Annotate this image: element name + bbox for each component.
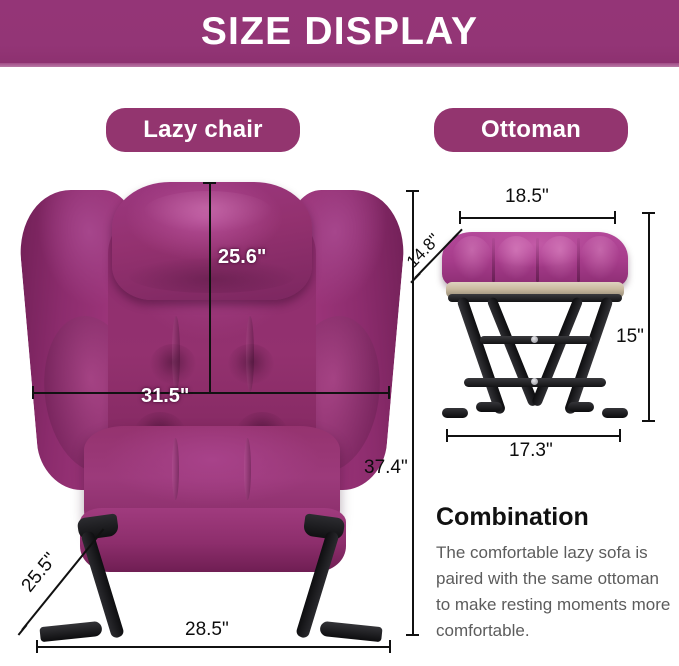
chair-seat-width-line <box>32 392 390 394</box>
ottoman-cushion-lobe <box>540 236 580 280</box>
ottoman-top-width-label: 18.5" <box>505 186 549 208</box>
chair-back-height-label: 25.6" <box>218 246 266 269</box>
page-title: SIZE DISPLAY <box>0 0 679 63</box>
chair-seat-crease <box>244 438 251 500</box>
ottoman-cushion-seam <box>577 238 580 282</box>
ottoman-pivot-bolt <box>531 336 538 343</box>
chair-crease <box>172 316 180 392</box>
ottoman-cushion-lobe <box>496 236 536 280</box>
ottoman-height-line <box>648 212 650 422</box>
ottoman-height-label: 15" <box>616 326 644 348</box>
chair-back-height-line <box>209 182 211 394</box>
chair-total-width-cap-right <box>389 640 391 653</box>
chair-seat-width-label: 31.5" <box>141 385 189 408</box>
combination-description: The comfortable lazy sofa is paired with… <box>436 540 674 644</box>
combination-heading: Combination <box>436 503 589 532</box>
chair-total-height-cap-bottom <box>406 634 419 636</box>
chair-seat-width-cap-left <box>32 386 34 399</box>
ottoman-height-cap-top <box>642 212 655 214</box>
ottoman-base-rail <box>448 294 622 302</box>
chair-total-width-cap-left <box>36 640 38 653</box>
ottoman-cushion-lobe <box>452 236 492 280</box>
size-display-infographic: SIZE DISPLAY Lazy chair Ottoman 25.6" 31… <box>0 0 679 666</box>
ottoman-base-width-cap-left <box>446 429 448 442</box>
ottoman-illustration <box>440 232 630 420</box>
chair-seat-width-cap-right <box>388 386 390 399</box>
chair-crease <box>246 316 254 392</box>
chair-headrest-pillow <box>112 182 312 300</box>
chair-foot-left <box>39 621 102 642</box>
ottoman-cushion-seam <box>536 238 539 282</box>
ottoman-base-width-cap-right <box>619 429 621 442</box>
ottoman-base-width-line <box>446 435 621 437</box>
chair-seat-crease <box>172 438 179 500</box>
chair-total-width-label: 28.5" <box>185 619 229 641</box>
label-pill-lazy-chair: Lazy chair <box>106 108 300 152</box>
ottoman-top-width-cap-left <box>459 211 461 224</box>
ottoman-height-cap-bottom <box>642 420 655 422</box>
ottoman-cushion-seam <box>492 238 495 282</box>
chair-total-height-cap-top <box>406 190 419 192</box>
ottoman-foot <box>568 402 594 412</box>
ottoman-cushion-lobe <box>580 236 620 280</box>
ottoman-base-width-label: 17.3" <box>509 440 553 462</box>
ottoman-top-width-cap-right <box>614 211 616 224</box>
chair-foot-right <box>319 621 382 642</box>
chair-total-height-label: 37.4" <box>364 457 408 479</box>
header-banner-underline <box>0 63 679 67</box>
chair-total-width-line <box>36 646 391 648</box>
ottoman-pivot-bolt <box>531 378 538 385</box>
ottoman-foot <box>476 402 502 412</box>
chair-back-height-cap-top <box>203 182 216 184</box>
ottoman-foot <box>442 408 468 418</box>
label-pill-ottoman: Ottoman <box>434 108 628 152</box>
ottoman-top-width-line <box>459 217 616 219</box>
lazy-chair-illustration <box>22 176 402 636</box>
ottoman-foot <box>602 408 628 418</box>
